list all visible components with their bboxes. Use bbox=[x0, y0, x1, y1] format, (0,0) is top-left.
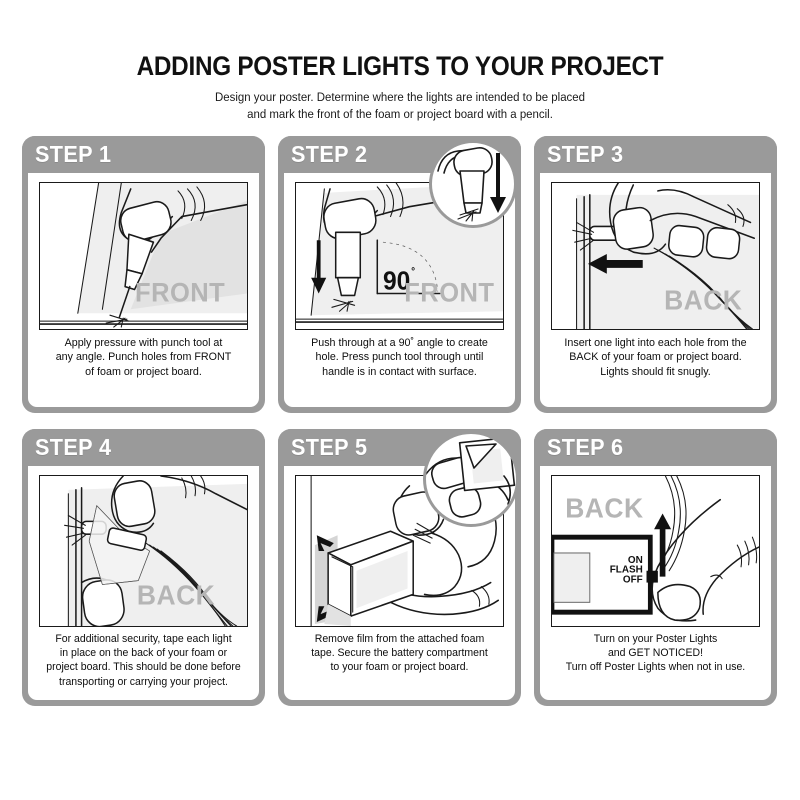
svg-text:FRONT: FRONT bbox=[404, 277, 494, 308]
step-2-closeup-inset bbox=[429, 140, 517, 228]
step-header-1: STEP 1 bbox=[22, 136, 265, 173]
step-illustration-3: BACK bbox=[551, 182, 760, 330]
step-body-4: BACK For additional security, tape each … bbox=[28, 466, 259, 700]
caption-line: Lights should fit snugly. bbox=[553, 365, 759, 379]
step-label-2: STEP 2 bbox=[291, 141, 367, 168]
caption-line: For additional security, tape each light bbox=[41, 632, 247, 646]
step-illustration-6: BACK O bbox=[551, 475, 760, 627]
step-caption-6: Turn on your Poster Lights and GET NOTIC… bbox=[553, 632, 759, 675]
page-subtitle: Design your poster. Determine where the … bbox=[28, 89, 772, 121]
page-subtitle-line-1: Design your poster. Determine where the … bbox=[28, 89, 772, 105]
caption-line: transporting or carrying your project. bbox=[41, 675, 247, 689]
step-panel-6: STEP 6 BACK bbox=[534, 429, 777, 706]
steps-grid: STEP 1 bbox=[22, 136, 778, 706]
svg-text:FRONT: FRONT bbox=[135, 277, 225, 308]
instruction-sheet: ADDING POSTER LIGHTS TO YOUR PROJECT Des… bbox=[0, 0, 800, 800]
caption-line: Insert one light into each hole from the bbox=[553, 336, 759, 350]
step-body-6: BACK O bbox=[540, 466, 771, 700]
step-body-1: FRONT Apply pressure with punch tool at … bbox=[28, 173, 259, 407]
caption-line: tape. Secure the battery compartment bbox=[297, 646, 503, 660]
svg-text:BACK: BACK bbox=[664, 285, 742, 316]
step-caption-4: For additional security, tape each light… bbox=[41, 632, 247, 689]
caption-line: any angle. Punch holes from FRONT bbox=[41, 350, 247, 364]
step-illustration-1: FRONT bbox=[39, 182, 248, 330]
caption-line: of foam or project board. bbox=[41, 365, 247, 379]
step-header-3: STEP 3 bbox=[534, 136, 777, 173]
caption-line: Remove film from the attached foam bbox=[297, 632, 503, 646]
step-illustration-4: BACK bbox=[39, 475, 248, 627]
caption-line: to your foam or project board. bbox=[297, 660, 503, 674]
svg-text:BACK: BACK bbox=[137, 580, 215, 611]
page-subtitle-line-2: and mark the front of the foam or projec… bbox=[28, 106, 772, 122]
step-header-4: STEP 4 bbox=[22, 429, 265, 466]
step-panel-2: STEP 2 bbox=[278, 136, 521, 413]
step-header-6: STEP 6 bbox=[534, 429, 777, 466]
step-caption-2: Push through at a 90˚ angle to create ho… bbox=[297, 336, 503, 379]
step-5-closeup-inset bbox=[423, 431, 519, 527]
caption-line: hole. Press punch tool through until bbox=[297, 350, 503, 364]
step-panel-3: STEP 3 bbox=[534, 136, 777, 413]
svg-text:BACK: BACK bbox=[565, 493, 643, 524]
step-label-6: STEP 6 bbox=[547, 434, 623, 461]
step-caption-5: Remove film from the attached foam tape.… bbox=[297, 632, 503, 675]
caption-line: project board. This should be done befor… bbox=[41, 660, 247, 674]
caption-line: Turn on your Poster Lights bbox=[553, 632, 759, 646]
page-title: ADDING POSTER LIGHTS TO YOUR PROJECT bbox=[40, 52, 760, 80]
caption-line: in place on the back of your foam or bbox=[41, 646, 247, 660]
step-label-5: STEP 5 bbox=[291, 434, 367, 461]
step-label-3: STEP 3 bbox=[547, 141, 623, 168]
caption-line: Push through at a 90˚ angle to create bbox=[297, 336, 503, 350]
caption-line: Apply pressure with punch tool at bbox=[41, 336, 247, 350]
caption-line: Turn off Poster Lights when not in use. bbox=[553, 660, 759, 674]
step-body-3: BACK Insert one light into each hole fro… bbox=[540, 173, 771, 407]
caption-line: and GET NOTICED! bbox=[553, 646, 759, 660]
step-panel-4: STEP 4 bbox=[22, 429, 265, 706]
svg-text:OFF: OFF bbox=[623, 574, 643, 585]
caption-line: BACK of your foam or project board. bbox=[553, 350, 759, 364]
step-label-1: STEP 1 bbox=[35, 141, 111, 168]
caption-line: handle is in contact with surface. bbox=[297, 365, 503, 379]
step-caption-3: Insert one light into each hole from the… bbox=[553, 336, 759, 379]
step-panel-1: STEP 1 bbox=[22, 136, 265, 413]
page-header: ADDING POSTER LIGHTS TO YOUR PROJECT Des… bbox=[0, 52, 800, 122]
step-caption-1: Apply pressure with punch tool at any an… bbox=[41, 336, 247, 379]
step-panel-5: STEP 5 bbox=[278, 429, 521, 706]
step-label-4: STEP 4 bbox=[35, 434, 111, 461]
